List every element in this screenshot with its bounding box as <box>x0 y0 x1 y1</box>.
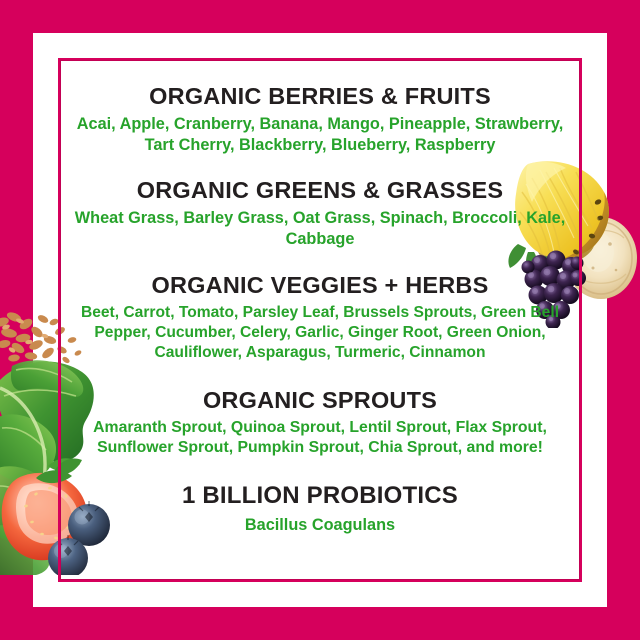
section-heading: ORGANIC BERRIES & FRUITS <box>58 84 582 109</box>
section-veggies-herbs: ORGANIC VEGGIES + HERBS Beet, Carrot, To… <box>58 273 582 363</box>
section-probiotics: 1 BILLION PROBIOTICS Bacillus Coagulans <box>58 483 582 536</box>
section-heading: ORGANIC GREENS & GRASSES <box>58 178 582 203</box>
section-items: Beet, Carrot, Tomato, Parsley Leaf, Brus… <box>58 303 582 363</box>
section-greens-grasses: ORGANIC GREENS & GRASSES Wheat Grass, Ba… <box>58 178 582 249</box>
ingredient-list: ORGANIC BERRIES & FRUITS Acai, Apple, Cr… <box>58 58 582 582</box>
section-berries-fruits: ORGANIC BERRIES & FRUITS Acai, Apple, Cr… <box>58 84 582 155</box>
section-items: Wheat Grass, Barley Grass, Oat Grass, Sp… <box>58 208 582 250</box>
section-sprouts: ORGANIC SPROUTS Amaranth Sprout, Quinoa … <box>58 388 582 458</box>
section-items: Amaranth Sprout, Quinoa Sprout, Lentil S… <box>58 418 582 458</box>
ingredient-poster: ORGANIC BERRIES & FRUITS Acai, Apple, Cr… <box>0 0 640 640</box>
section-heading: ORGANIC SPROUTS <box>58 388 582 413</box>
section-items: Bacillus Coagulans <box>58 515 582 536</box>
section-items: Acai, Apple, Cranberry, Banana, Mango, P… <box>58 114 582 156</box>
section-heading: 1 BILLION PROBIOTICS <box>58 483 582 508</box>
section-heading: ORGANIC VEGGIES + HERBS <box>58 273 582 298</box>
